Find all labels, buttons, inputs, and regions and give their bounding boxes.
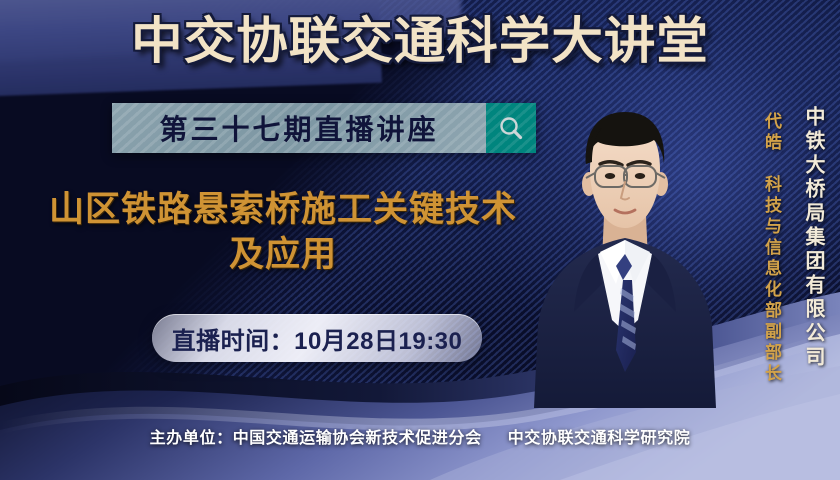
footer-org-1: 中国交通运输协会新技术促进分会 [233, 430, 482, 447]
livestream-poster: 中交协联交通科学大讲堂 第三十七期直播讲座 山区铁路悬索桥施工关键技术 及应用 … [0, 0, 840, 480]
footer-org-2: 中交协联交通科学研究院 [508, 430, 691, 447]
episode-label-box: 第三十七期直播讲座 [112, 103, 486, 153]
schedule-text: 直播时间：10月28日19:30 [172, 321, 463, 356]
speaker-organization: 中铁大桥局集团有限公司 [799, 106, 828, 342]
topic-line-2: 及应用 [18, 233, 548, 278]
schedule-badge: 直播时间：10月28日19:30 [152, 314, 482, 362]
search-icon [497, 114, 525, 142]
topic-title: 山区铁路悬索桥施工关键技术 及应用 [18, 188, 548, 278]
episode-label: 第三十七期直播讲座 [159, 108, 438, 148]
topic-line-1: 山区铁路悬索桥施工关键技术 [18, 188, 548, 233]
speaker-name-title: 代皓 科技与信息化部副部长 [759, 112, 784, 344]
footer-organizers: 主办单位：中国交通运输协会新技术促进分会中交协联交通科学研究院 [0, 424, 840, 448]
page-title: 中交协联交通科学大讲堂 [0, 16, 840, 66]
footer-prefix: 主办单位： [150, 430, 233, 447]
speaker-portrait [520, 88, 730, 408]
episode-banner: 第三十七期直播讲座 [112, 103, 536, 153]
